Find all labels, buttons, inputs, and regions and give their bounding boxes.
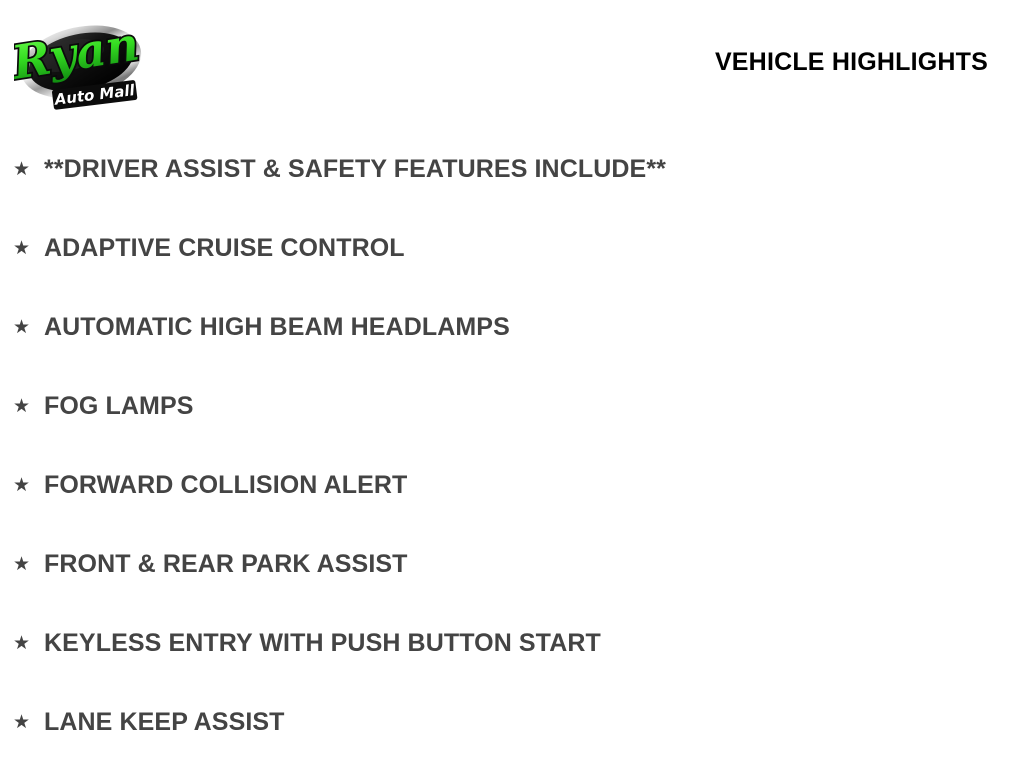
list-item: ★ ADAPTIVE CRUISE CONTROL [0,209,1024,288]
star-icon: ★ [13,712,31,734]
list-item: ★ FORWARD COLLISION ALERT [0,446,1024,525]
list-item: ★ AUTOMATIC HIGH BEAM HEADLAMPS [0,288,1024,367]
page-title: VEHICLE HIGHLIGHTS [715,50,988,75]
list-item-label: FRONT & REAR PARK ASSIST [44,551,408,579]
list-item-label: KEYLESS ENTRY WITH PUSH BUTTON START [44,630,601,658]
star-icon: ★ [13,159,31,181]
list-item: ★ FRONT & REAR PARK ASSIST [0,525,1024,604]
star-icon: ★ [13,475,31,497]
vehicle-highlights-list: ★ **DRIVER ASSIST & SAFETY FEATURES INCL… [0,130,1024,762]
list-item-label: FORWARD COLLISION ALERT [44,472,407,500]
list-item: ★ FOG LAMPS [0,367,1024,446]
list-item-label: ADAPTIVE CRUISE CONTROL [44,235,405,263]
star-icon: ★ [13,554,31,576]
list-item-label: LANE KEEP ASSIST [44,709,285,737]
page-header: Ryan Auto Mall VEHICLE HIGHLIGHTS [0,0,1024,130]
star-icon: ★ [13,633,31,655]
star-icon: ★ [13,396,31,418]
list-item: ★ **DRIVER ASSIST & SAFETY FEATURES INCL… [0,130,1024,209]
list-item: ★ LANE KEEP ASSIST [0,683,1024,762]
list-item-label: AUTOMATIC HIGH BEAM HEADLAMPS [44,314,510,342]
list-item-label: FOG LAMPS [44,393,194,421]
star-icon: ★ [13,238,31,260]
list-item: ★ KEYLESS ENTRY WITH PUSH BUTTON START [0,604,1024,683]
ryan-auto-mall-logo: Ryan Auto Mall [14,10,148,118]
star-icon: ★ [13,317,31,339]
list-item-label: **DRIVER ASSIST & SAFETY FEATURES INCLUD… [44,156,666,184]
